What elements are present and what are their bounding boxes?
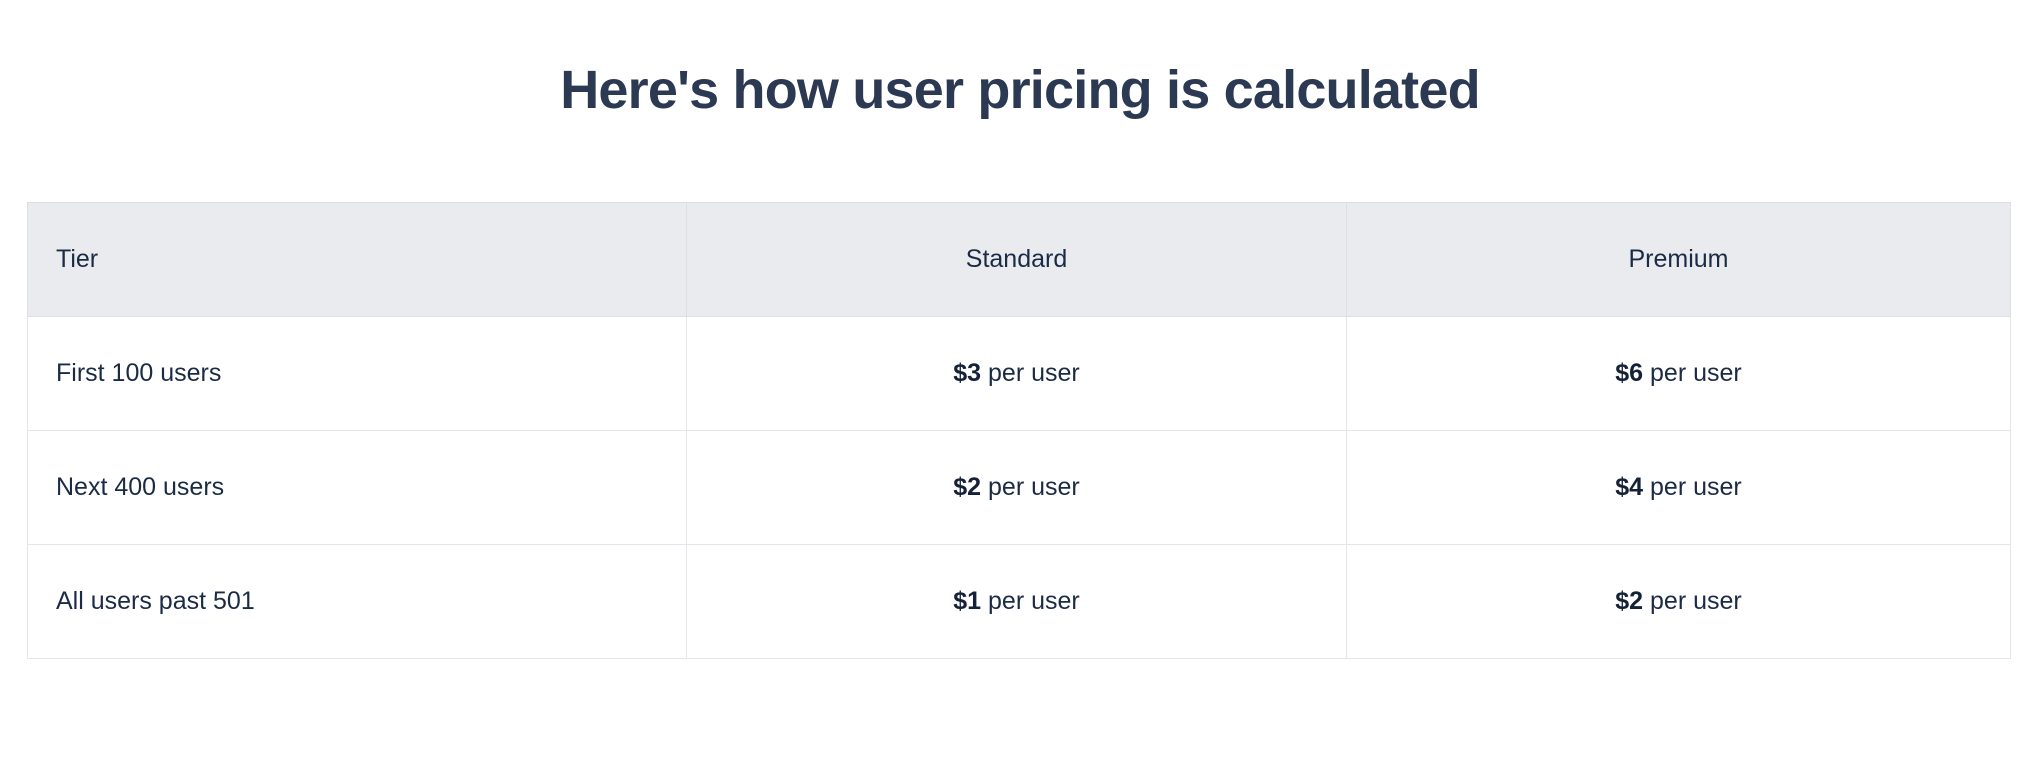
price-unit: per user xyxy=(988,587,1080,615)
cell-premium-price: $6 per user xyxy=(1347,317,2011,431)
cell-standard-price: $1 per user xyxy=(687,545,1347,659)
price-amount: $2 xyxy=(953,473,981,501)
cell-standard-price: $2 per user xyxy=(687,431,1347,545)
cell-tier: Next 400 users xyxy=(28,431,687,545)
price-amount: $4 xyxy=(1615,473,1643,501)
table-row: First 100 users $3 per user $6 per user xyxy=(28,317,2011,431)
cell-standard-price: $3 per user xyxy=(687,317,1347,431)
price-unit: per user xyxy=(1650,473,1742,501)
pricing-table-container: Tier Standard Premium First 100 users $3… xyxy=(27,202,2010,659)
cell-tier: All users past 501 xyxy=(28,545,687,659)
column-header-premium: Premium xyxy=(1347,203,2011,317)
column-header-tier: Tier xyxy=(28,203,687,317)
price-amount: $2 xyxy=(1615,587,1643,615)
cell-tier: First 100 users xyxy=(28,317,687,431)
table-header-row: Tier Standard Premium xyxy=(28,203,2011,317)
table-row: All users past 501 $1 per user $2 per us… xyxy=(28,545,2011,659)
pricing-page: Here's how user pricing is calculated Ti… xyxy=(0,0,2040,772)
cell-premium-price: $4 per user xyxy=(1347,431,2011,545)
page-title: Here's how user pricing is calculated xyxy=(0,60,2040,120)
price-amount: $1 xyxy=(953,587,981,615)
price-unit: per user xyxy=(988,359,1080,387)
cell-premium-price: $2 per user xyxy=(1347,545,2011,659)
table-header: Tier Standard Premium xyxy=(28,203,2011,317)
pricing-table: Tier Standard Premium First 100 users $3… xyxy=(27,202,2011,659)
column-header-standard: Standard xyxy=(687,203,1347,317)
table-row: Next 400 users $2 per user $4 per user xyxy=(28,431,2011,545)
price-unit: per user xyxy=(1650,587,1742,615)
price-unit: per user xyxy=(988,473,1080,501)
table-body: First 100 users $3 per user $6 per user … xyxy=(28,317,2011,659)
price-unit: per user xyxy=(1650,359,1742,387)
price-amount: $3 xyxy=(953,359,981,387)
price-amount: $6 xyxy=(1615,359,1643,387)
